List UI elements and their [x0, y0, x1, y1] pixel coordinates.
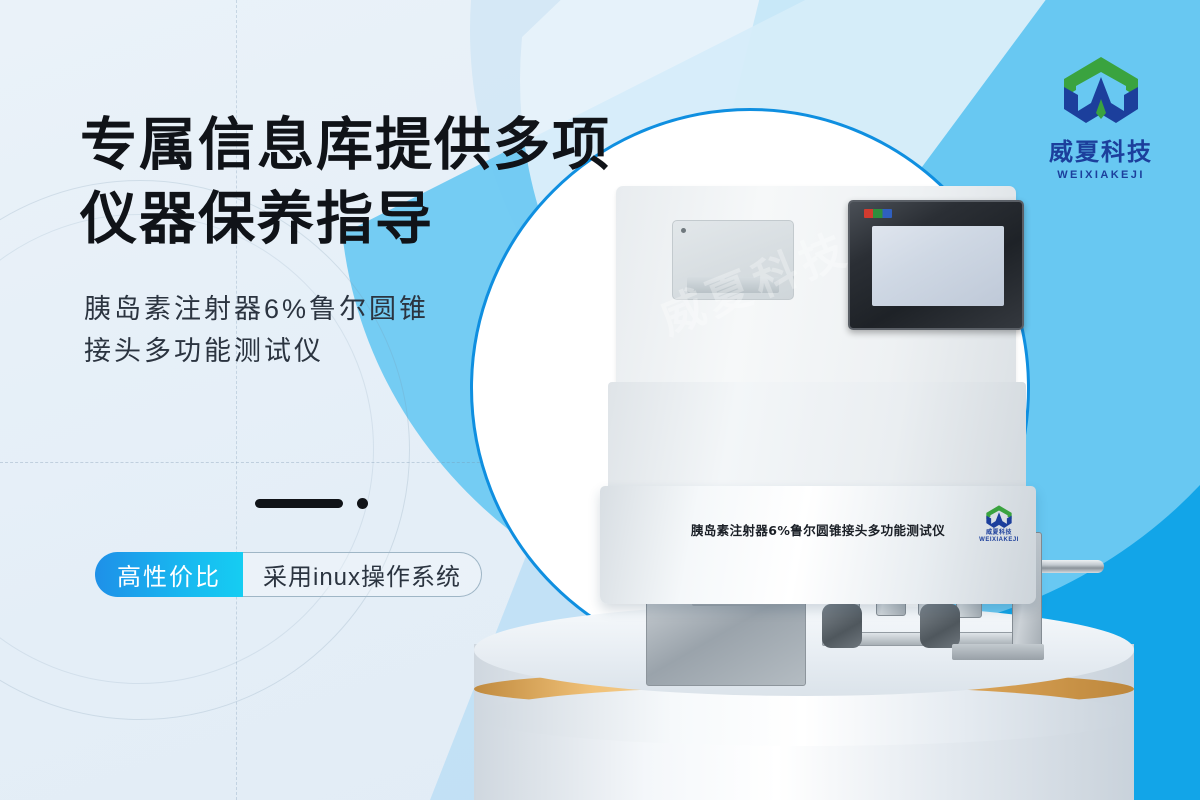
headline-line-2: 仪器保养指导: [80, 182, 600, 256]
device-knob-1[interactable]: [822, 604, 862, 648]
nameplate-logo: 威夏科技 WEIXIAKEJI: [976, 504, 1022, 544]
divider-bar: [255, 499, 343, 508]
device-nameplate: 胰岛素注射器6%鲁尔圆锥接头多功能测试仪: [600, 520, 1036, 539]
panel-handle: [687, 277, 779, 293]
product-subtitle: 胰岛素注射器6%鲁尔圆锥 接头多功能测试仪: [84, 288, 429, 372]
subtitle-line-2: 接头多功能测试仪: [84, 330, 429, 372]
nameplate-logo-cn: 威夏科技: [976, 530, 1022, 537]
brand-name-cn: 威夏科技: [1026, 132, 1176, 167]
touchscreen-display[interactable]: [872, 226, 1004, 306]
touchscreen-brand-icon: [864, 209, 892, 218]
divider: [255, 498, 368, 509]
device-access-panel: [672, 220, 794, 300]
brand-name-en: WEIXIAKEJI: [1026, 169, 1176, 181]
tag-secondary: 采用inux操作系统: [243, 552, 482, 597]
tag-primary: 高性价比: [95, 552, 243, 597]
feature-tags: 高性价比 采用inux操作系统: [95, 552, 482, 597]
panel-screw-icon: [681, 228, 686, 233]
device-worktop: [608, 382, 1026, 492]
hexagon-arrow-logo-icon: [1026, 52, 1176, 130]
bracket-foot: [952, 644, 1044, 660]
device-knob-2[interactable]: [920, 604, 960, 648]
subtitle-line-1: 胰岛素注射器6%鲁尔圆锥: [84, 288, 429, 330]
nameplate-logo-icon: [976, 504, 1022, 530]
nameplate-logo-en: WEIXIAKEJI: [976, 537, 1022, 544]
headline-line-1: 专属信息库提供多项: [80, 108, 600, 182]
brand-logo: 威夏科技 WEIXIAKEJI: [1026, 52, 1176, 181]
decorative-dashed-horizontal: [0, 462, 520, 463]
page-title: 专属信息库提供多项 仪器保养指导: [80, 108, 600, 256]
device-plinth: 胰岛素注射器6%鲁尔圆锥接头多功能测试仪 威夏科技 WEIXIAKEJI: [600, 486, 1036, 604]
divider-dot-icon: [357, 498, 368, 509]
device-upper-body: [616, 186, 1016, 386]
promo-banner: 专属信息库提供多项 仪器保养指导 胰岛素注射器6%鲁尔圆锥 接头多功能测试仪 高…: [0, 0, 1200, 800]
device-tray: [646, 594, 806, 686]
product-device: 胰岛素注射器6%鲁尔圆锥接头多功能测试仪 威夏科技 WEIXIAKEJI: [590, 186, 1110, 606]
device-touchscreen[interactable]: [848, 200, 1024, 330]
